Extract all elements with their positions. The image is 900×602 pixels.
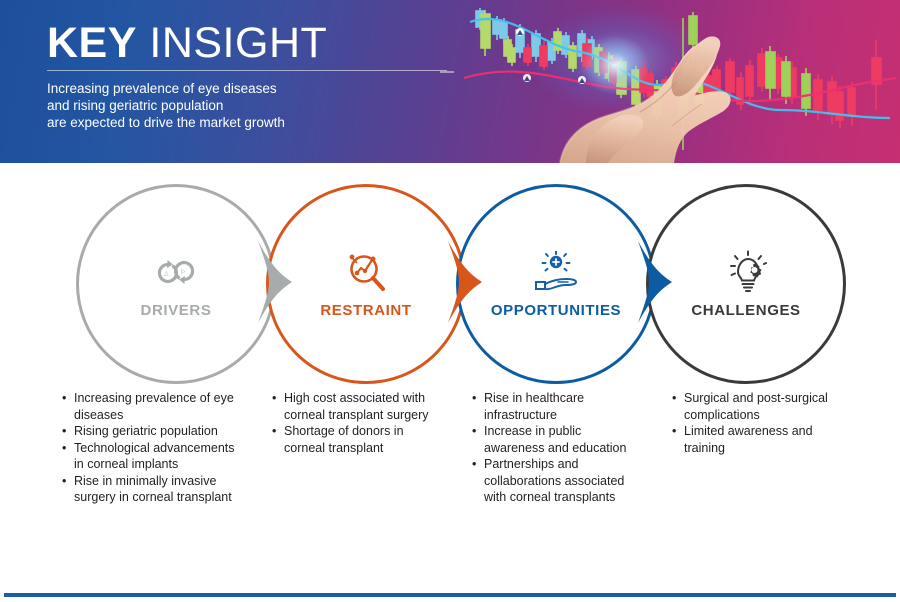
stage-circle-drivers[interactable]: △ ▷ DRIVERS xyxy=(76,184,276,384)
page-title-insight: INSIGHT xyxy=(137,19,327,67)
bullet-list-restraint: High cost associated with corneal transp… xyxy=(270,390,445,456)
stage-circle-challenges[interactable]: CHALLENGES xyxy=(646,184,846,384)
list-item: Increase in public awareness and educati… xyxy=(484,423,635,456)
bullet-list-opportunities: Rise in healthcare infrastructure Increa… xyxy=(470,390,635,506)
svg-text:△: △ xyxy=(164,271,169,277)
stage-label-challenges: CHALLENGES xyxy=(691,302,800,319)
stage-label-drivers: DRIVERS xyxy=(141,302,212,319)
header-banner: KEY INSIGHT Increasing prevalence of eye… xyxy=(0,0,900,163)
list-item: Technological advancements in corneal im… xyxy=(74,440,245,473)
banner-photo xyxy=(440,0,900,163)
lightbulb-gear-icon xyxy=(724,250,768,294)
list-item: Limited awareness and training xyxy=(684,423,835,456)
hand-holding-idea-icon xyxy=(532,250,580,294)
list-item: Partnerships and collaborations associat… xyxy=(484,456,635,506)
list-item: Rise in minimally invasive surgery in co… xyxy=(74,473,245,506)
fingertip-glow xyxy=(580,35,650,95)
list-item: Rising geriatric population xyxy=(74,423,245,440)
list-item: Rise in healthcare infrastructure xyxy=(484,390,635,423)
stage-content-challenges: CHALLENGES xyxy=(649,187,843,381)
stage-circle-opportunities[interactable]: OPPORTUNITIES xyxy=(456,184,656,384)
stage-circle-restraint[interactable]: RESTRAINT xyxy=(266,184,466,384)
stage-label-restraint: RESTRAINT xyxy=(320,302,411,319)
list-item: Shortage of donors in corneal transplant xyxy=(284,423,445,456)
stage-label-opportunities: OPPORTUNITIES xyxy=(491,302,621,319)
circular-arrows-icon: △ ▷ xyxy=(153,250,199,294)
bullet-list-drivers: Increasing prevalence of eye diseases Ri… xyxy=(60,390,245,506)
hand-touching-screen-icon xyxy=(440,0,900,163)
list-item: Surgical and post-surgical complications xyxy=(684,390,835,423)
footer-bar xyxy=(4,593,896,597)
stage-content-opportunities: OPPORTUNITIES xyxy=(459,187,653,381)
title-divider xyxy=(47,70,447,71)
bullet-list-challenges: Surgical and post-surgical complications… xyxy=(670,390,835,456)
page-title-key: KEY xyxy=(47,19,137,67)
page-title: KEY INSIGHT xyxy=(47,22,327,65)
list-item: Increasing prevalence of eye diseases xyxy=(74,390,245,423)
svg-text:▷: ▷ xyxy=(181,269,186,275)
list-item: High cost associated with corneal transp… xyxy=(284,390,445,423)
stage-content-restraint: RESTRAINT xyxy=(269,187,463,381)
stage-content-drivers: △ ▷ DRIVERS xyxy=(79,187,273,381)
banner-subtitle: Increasing prevalence of eye diseases an… xyxy=(47,80,285,131)
magnifier-chart-icon xyxy=(344,250,388,294)
